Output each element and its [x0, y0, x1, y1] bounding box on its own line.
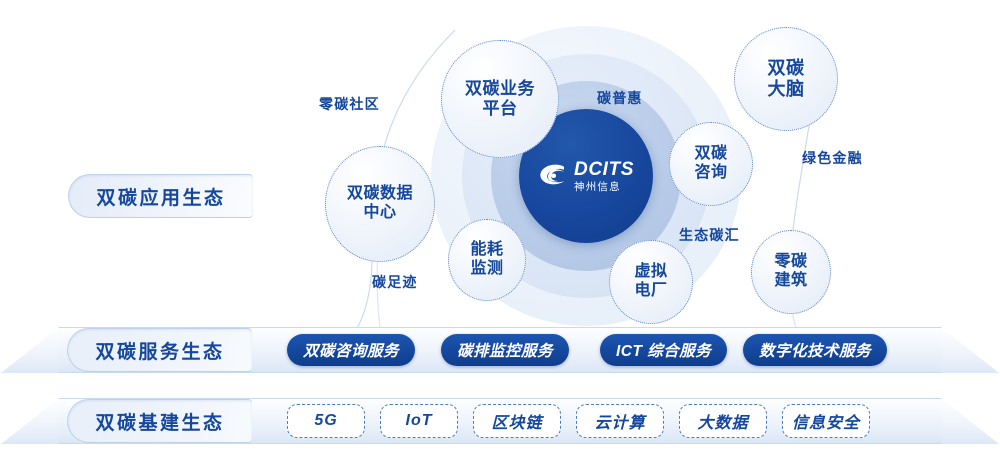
band-wing-left: [1, 398, 59, 444]
node-label: 能耗监测: [466, 241, 507, 279]
row-label-text: 双碳服务生态: [95, 337, 224, 364]
node-xuni-diangchang[interactable]: 虚拟电厂: [609, 240, 693, 324]
row-label-infrastructure: 双碳基建生态: [67, 399, 252, 443]
logo-wordmark-en: DCITS: [574, 160, 634, 179]
row-label-text: 双碳基建生态: [95, 408, 224, 435]
infra-pill-5g[interactable]: 5G: [287, 404, 365, 438]
service-pill-digital-tech[interactable]: 数字化技术服务: [743, 334, 887, 366]
logo-wordmark-cn: 神州信息: [574, 182, 634, 193]
tag-shengtai-tanhui: 生态碳汇: [679, 225, 740, 245]
node-shuangtan-yewu-pingtai[interactable]: 双碳业务平台: [441, 40, 559, 158]
node-label: 双碳业务平台: [461, 79, 539, 119]
node-label: 虚拟电厂: [630, 263, 671, 301]
node-shuangtan-shuju-zhongxin[interactable]: 双碳数据中心: [325, 146, 435, 262]
infra-pill-bigdata[interactable]: 大数据: [679, 404, 767, 438]
node-label: 双碳大脑: [764, 58, 809, 100]
node-nenghao-jiance[interactable]: 能耗监测: [448, 219, 526, 301]
service-pill-emission-monitoring[interactable]: 碳排监控服务: [441, 334, 569, 366]
row-label-text: 双碳应用生态: [96, 183, 225, 210]
node-shuangtan-danao[interactable]: 双碳大脑: [734, 27, 838, 131]
band-wing-left: [1, 327, 59, 373]
infra-pill-cloud[interactable]: 云计算: [576, 404, 664, 438]
swoosh-icon: [538, 163, 568, 189]
dcits-logo: DCITS 神州信息: [538, 160, 634, 193]
ecosystem-diagram: DCITS 神州信息 双碳业务平台 双碳大脑 双碳数据中心 双碳咨询 能耗监测: [0, 0, 1000, 476]
node-label: 零碳建筑: [770, 253, 811, 291]
tag-tan-zuji: 碳足迹: [372, 272, 418, 292]
row-label-service: 双碳服务生态: [67, 328, 252, 372]
node-label: 双碳数据中心: [343, 185, 417, 223]
tag-lingtan-shequ: 零碳社区: [319, 94, 380, 114]
node-label: 双碳咨询: [690, 145, 731, 183]
service-band: 双碳服务生态 双碳咨询服务 碳排监控服务 ICT 综合服务 数字化技术服务: [58, 327, 942, 373]
tag-lvse-jinrong: 绿色金融: [802, 148, 863, 168]
node-shuangtan-zixun[interactable]: 双碳咨询: [669, 122, 753, 206]
service-pill-ict[interactable]: ICT 综合服务: [600, 334, 727, 366]
infra-pill-infosec[interactable]: 信息安全: [782, 404, 870, 438]
row-label-application: 双碳应用生态: [68, 174, 253, 218]
service-pill-consulting[interactable]: 双碳咨询服务: [287, 334, 415, 366]
band-wing-right: [941, 398, 999, 444]
tag-tan-puhui: 碳普惠: [597, 88, 643, 108]
infra-pill-iot[interactable]: IoT: [380, 404, 458, 438]
node-lingtan-jianzhu[interactable]: 零碳建筑: [751, 230, 831, 314]
infra-pill-blockchain[interactable]: 区块链: [473, 404, 561, 438]
band-wing-right: [941, 327, 999, 373]
infrastructure-band: 双碳基建生态 5G IoT 区块链 云计算 大数据 信息安全: [58, 398, 942, 444]
